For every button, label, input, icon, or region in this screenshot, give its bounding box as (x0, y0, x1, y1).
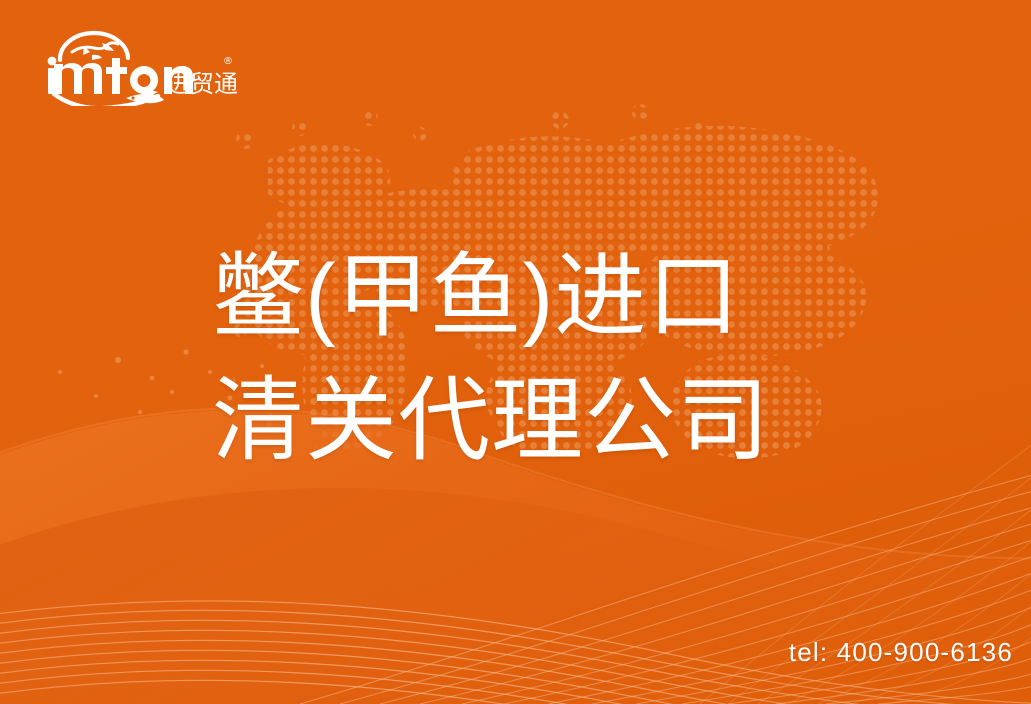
promotional-banner: 进贸通 ® 鳖(甲鱼)进口 清关代理公司 tel: 400-900-6136 (0, 0, 1031, 704)
company-logo-artwork: 进贸通 ® (38, 28, 238, 106)
headline-line-1: 鳖(甲鱼)进口 (212, 235, 852, 359)
dragon-swoosh-icon (54, 91, 164, 106)
company-logo[interactable]: 进贸通 ® (38, 28, 238, 106)
logo-chinese-name: 进贸通 (166, 70, 238, 98)
headline: 鳖(甲鱼)进口 清关代理公司 (212, 235, 852, 483)
registered-trademark-icon: ® (223, 56, 233, 67)
globe-arc-icon (60, 33, 128, 60)
headline-line-2: 清关代理公司 (212, 359, 852, 483)
contact-phone: tel: 400-900-6136 (789, 637, 1013, 668)
